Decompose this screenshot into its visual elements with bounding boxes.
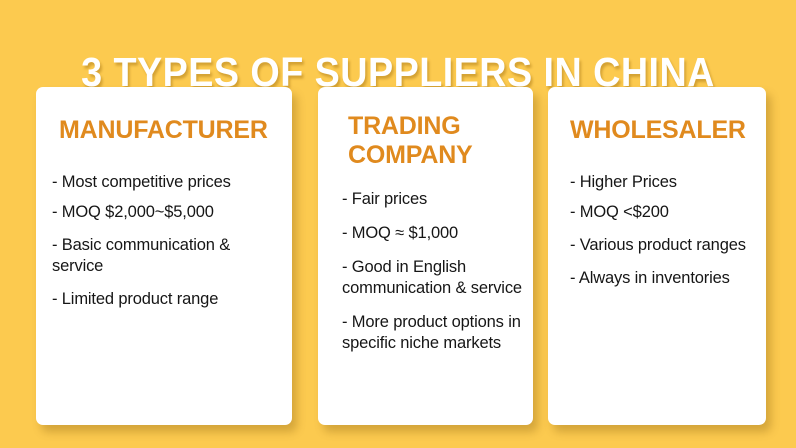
list-item: - Most competitive prices xyxy=(52,172,280,193)
card-heading-trading-company: TRADING COMPANY xyxy=(318,87,533,170)
card-bullet-list-manufacturer: - Most competitive prices - MOQ $2,000~$… xyxy=(36,145,292,310)
list-item: - More product options in specific niche… xyxy=(342,312,523,354)
list-item: - MOQ <$200 xyxy=(570,202,756,223)
cards-container: MANUFACTURER - Most competitive prices -… xyxy=(0,87,796,427)
card-bullet-list-wholesaler: - Higher Prices - MOQ <$200 - Various pr… xyxy=(548,145,766,289)
card-bullet-list-trading-company: - Fair prices - MOQ ≈ $1,000 - Good in E… xyxy=(318,170,533,354)
card-trading-company: TRADING COMPANY - Fair prices - MOQ ≈ $1… xyxy=(318,87,533,425)
list-item: - Basic communication & service xyxy=(52,235,280,277)
list-item: - MOQ ≈ $1,000 xyxy=(342,223,523,244)
list-item: - Always in inventories xyxy=(570,268,756,289)
card-heading-wholesaler: WHOLESALER xyxy=(548,87,766,145)
list-item: - Good in English communication & servic… xyxy=(342,257,523,299)
slide-root: 3 TYPES OF SUPPLIERS IN CHINA MANUFACTUR… xyxy=(0,0,796,448)
list-item: - Various product ranges xyxy=(570,235,756,256)
list-item: - Higher Prices xyxy=(570,172,756,193)
list-item: - Limited product range xyxy=(52,289,280,310)
card-manufacturer: MANUFACTURER - Most competitive prices -… xyxy=(36,87,292,425)
list-item: - MOQ $2,000~$5,000 xyxy=(52,202,280,223)
card-heading-manufacturer: MANUFACTURER xyxy=(36,87,292,145)
card-wholesaler: WHOLESALER - Higher Prices - MOQ <$200 -… xyxy=(548,87,766,425)
list-item: - Fair prices xyxy=(342,189,523,210)
